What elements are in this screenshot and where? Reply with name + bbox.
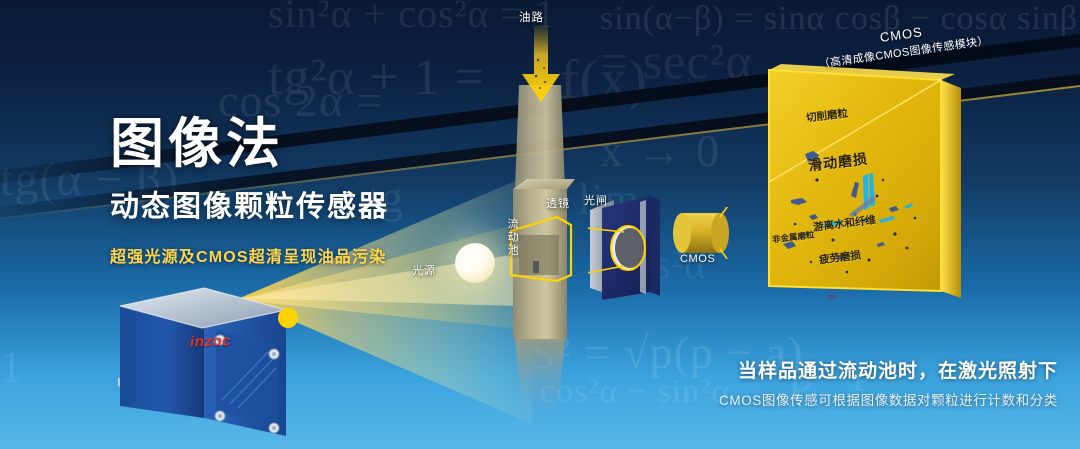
banner-root: sin²α + cos²α = 1 sin(α−β) = sinα cosβ −… xyxy=(0,0,1080,449)
sensor-device xyxy=(118,278,323,438)
flow-cell-label: 流动池 xyxy=(504,218,520,257)
caption-block: 当样品通过流动池时，在激光照射下 CMOS图像传感可根据图像数据对颗粒进行计数和… xyxy=(719,356,1058,409)
caption-sub: CMOS图像传感可根据图像数据对颗粒进行计数和分类 xyxy=(719,389,1058,409)
formula-text: sin²α + cos²α = 1 xyxy=(268,0,556,34)
formula-text: tg²α + 1 = xyxy=(268,52,485,104)
shutter-label: 光闸 xyxy=(584,192,608,208)
light-source-sphere xyxy=(455,243,495,283)
page-tagline: 超强光源及CMOS超清呈现油品污染 xyxy=(110,243,389,267)
device-brand-logo: inzoc xyxy=(190,332,231,350)
formula-text: x → 0 xyxy=(600,128,720,174)
lens-label: 透镜 xyxy=(546,195,570,211)
headline-block: 图像法 动态图像颗粒传感器 超强光源及CMOS超清呈现油品污染 xyxy=(110,116,389,267)
oil-path-label: 油路 xyxy=(519,9,544,25)
cmos-image-panel xyxy=(765,48,980,313)
formula-text: 1 xyxy=(0,345,23,389)
page-subtitle: 动态图像颗粒传感器 xyxy=(110,183,389,225)
page-title: 图像法 xyxy=(110,116,389,173)
cmos-cylinder xyxy=(672,207,730,259)
light-source-label: 光源 xyxy=(412,262,436,278)
cmos-cylinder-label: CMOS xyxy=(680,253,715,265)
formula-text: = sec²α xyxy=(600,36,753,86)
caption-main: 当样品通过流动池时，在激光照射下 xyxy=(719,356,1058,383)
oil-path-arrow xyxy=(520,26,562,104)
